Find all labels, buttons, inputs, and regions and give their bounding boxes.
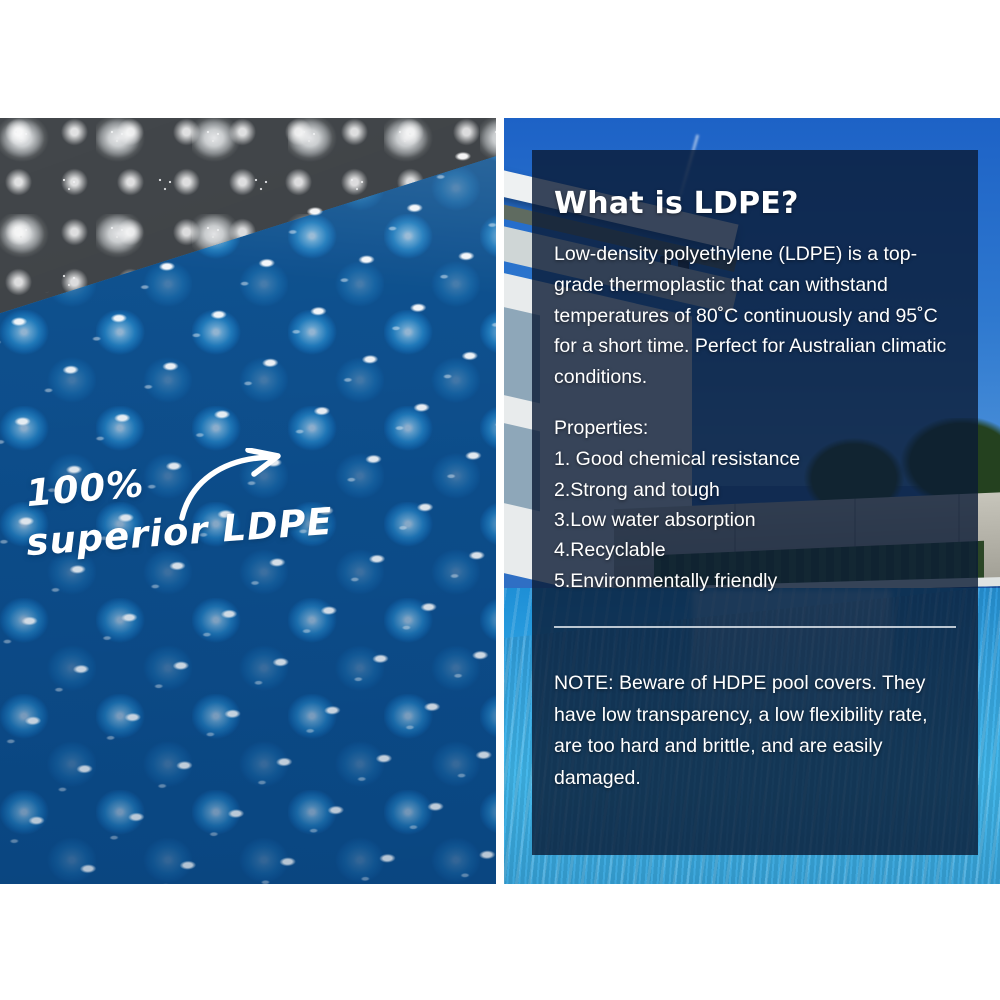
- bubble-cover-panel: 100% superior LDPE: [0, 118, 496, 884]
- list-item: 3.Low water absorption: [554, 505, 956, 535]
- card-intro-paragraph: Low-density polyethylene (LDPE) is a top…: [554, 239, 956, 393]
- card-title: What is LDPE?: [554, 186, 956, 221]
- properties-heading: Properties:: [554, 413, 956, 443]
- info-card: What is LDPE? Low-density polyethylene (…: [532, 150, 978, 855]
- pool-photo-panel: What is LDPE? Low-density polyethylene (…: [504, 118, 1000, 884]
- list-item: 1. Good chemical resistance: [554, 444, 956, 474]
- card-divider: [554, 626, 956, 628]
- properties-list: 1. Good chemical resistance 2.Strong and…: [554, 444, 956, 596]
- list-item: 2.Strong and tough: [554, 475, 956, 505]
- list-item: 5.Environmentally friendly: [554, 566, 956, 596]
- card-note-paragraph: NOTE: Beware of HDPE pool covers. They h…: [554, 668, 956, 794]
- list-item: 4.Recyclable: [554, 535, 956, 565]
- product-infographic: 100% superior LDPE: [0, 0, 1000, 1000]
